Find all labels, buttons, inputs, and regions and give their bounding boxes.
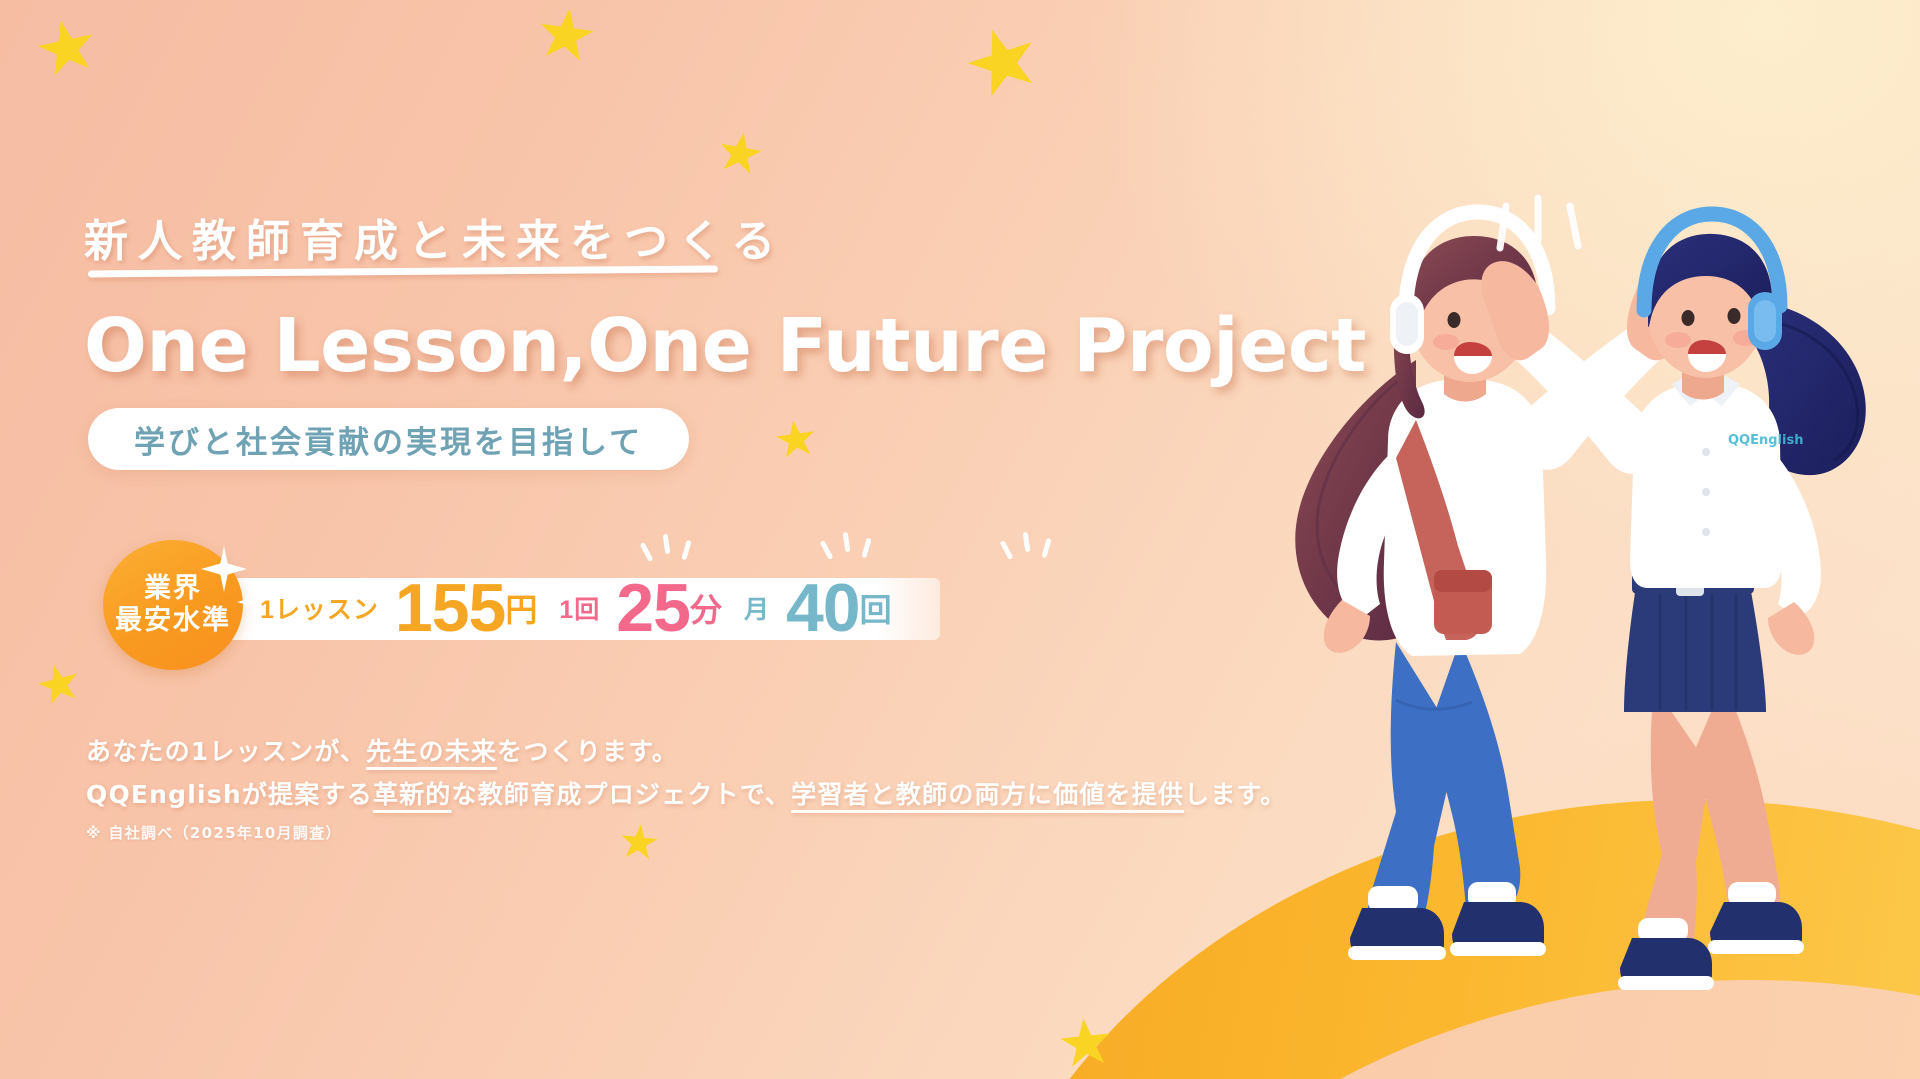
frequency-value: 40: [786, 574, 860, 642]
lead-l1-underline: 先生の未来: [366, 737, 497, 766]
lead-line-1: あなたの1レッスンが、先生の未来をつくります。: [86, 730, 1286, 773]
hero-lead-paragraph: あなたの1レッスンが、先生の未来をつくります。 QQEnglishが提案する革新…: [86, 730, 1286, 816]
hero-footnote: ※ 自社調べ（2025年10月調査）: [86, 822, 342, 843]
duration-value: 25: [616, 574, 690, 642]
duration-suffix: 分: [690, 585, 722, 631]
badge-line-1: 業界: [144, 573, 202, 605]
frequency-unit-label: 月: [744, 590, 770, 626]
hero-illustration: QQEnglish: [1220, 0, 1920, 1079]
lead-line-2: QQEnglishが提案する革新的な教師育成プロジェクトで、学習者と教師の両方に…: [86, 773, 1286, 816]
lead-l2-u1: 革新的: [373, 780, 452, 809]
lesson-price-value: 155: [395, 574, 505, 642]
price-row: 1レッスン 155 円 1回 25 分 月 40 回: [150, 548, 950, 668]
lesson-currency: 円: [505, 585, 537, 631]
lead-l2-pre: QQEnglishが提案する: [86, 780, 373, 809]
hero-text-content: 新人教師育成と未来をつくる One Lesson,One Future Proj…: [0, 0, 1100, 1079]
frequency-suffix: 回: [860, 585, 892, 631]
badge-line-2: 最安水準: [115, 605, 231, 637]
svg-text:QQEnglish: QQEnglish: [1728, 433, 1803, 448]
cheapest-in-industry-badge: 業界 最安水準: [103, 540, 243, 670]
duration-unit-label: 1回: [559, 590, 600, 626]
hero-kicker: 新人教師育成と未来をつくる: [84, 205, 785, 269]
hero-banner: QQEnglish: [0, 0, 1920, 1079]
lead-l2-mid: な教師育成プロジェクトで、: [452, 780, 792, 809]
lead-l1-post: をつくります。: [497, 737, 678, 766]
lesson-unit-label: 1レッスン: [260, 590, 379, 626]
lead-l2-u2: 学習者と教師の両方に価値を提供: [791, 780, 1184, 809]
hero-subtitle-pill: 学びと社会貢献の実現を目指して: [88, 408, 689, 470]
lead-l2-post: します。: [1184, 780, 1286, 809]
hero-headline: One Lesson,One Future Project: [84, 303, 1366, 389]
sparkle-ticks-frequency-icon: [1000, 526, 1070, 566]
hero-subtitle-text: 学びと社会貢献の実現を目指して: [134, 417, 643, 462]
lead-l1-pre: あなたの1レッスンが、: [86, 737, 366, 766]
